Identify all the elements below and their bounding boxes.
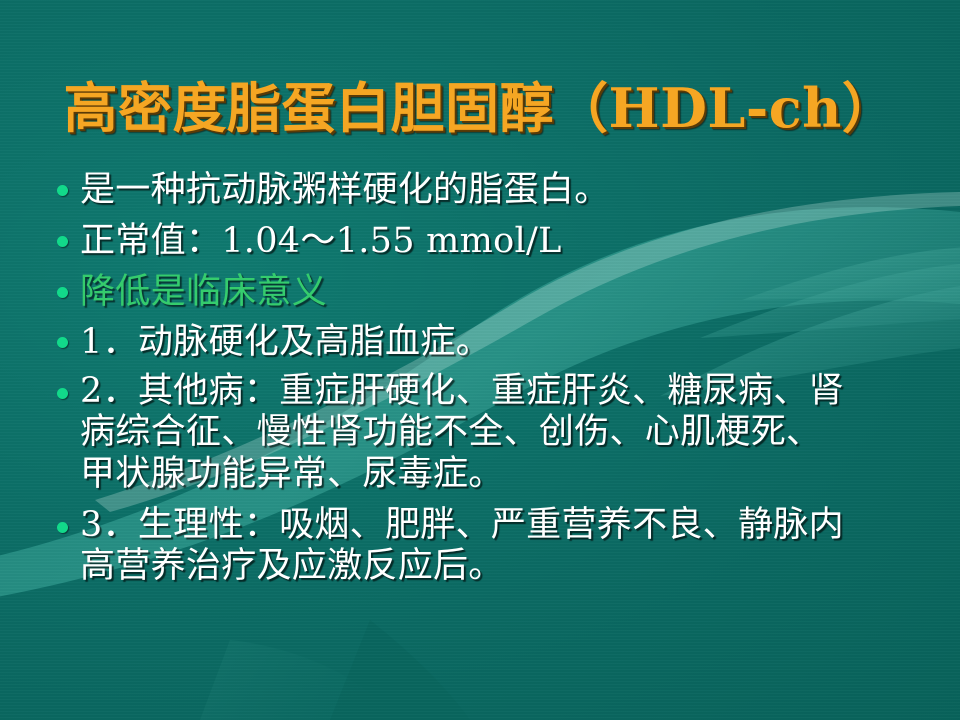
list-item: 正常值：1.04～1.55 mmol/L (46, 219, 936, 264)
bullet-line: 是一种抗动脉粥样硬化的脂蛋白。 (80, 168, 936, 213)
bullet-dot-icon (46, 219, 80, 247)
slide-title: 高密度脂蛋白胆固醇（HDL-ch） (0, 80, 960, 137)
bullet-line: 2．其他病：重症肝硬化、重症肝炎、糖尿病、肾 (80, 371, 936, 412)
bullet-line: 正常值：1.04～1.55 mmol/L (80, 219, 936, 264)
bullet-dot-icon (46, 168, 80, 196)
list-item: 降低是临床意义 (46, 270, 936, 315)
bullet-line: 高营养治疗及应激反应后。 (80, 546, 936, 587)
bullet-line: 降低是临床意义 (80, 270, 936, 315)
list-item: 1．动脉硬化及高脂血症。 (46, 320, 936, 365)
presentation-slide: 高密度脂蛋白胆固醇（HDL-ch） 是一种抗动脉粥样硬化的脂蛋白。 正常值：1.… (0, 0, 960, 720)
list-item: 3．生理性：吸烟、肥胖、严重营养不良、静脉内 高营养治疗及应激反应后。 (46, 505, 936, 588)
slide-bullet-list: 是一种抗动脉粥样硬化的脂蛋白。 正常值：1.04～1.55 mmol/L 降低是… (46, 168, 936, 594)
bullet-line: 病综合征、慢性肾功能不全、创伤、心肌梗死、 (80, 412, 936, 453)
bullet-text: 2．其他病：重症肝硬化、重症肝炎、糖尿病、肾 病综合征、慢性肾功能不全、创伤、心… (80, 371, 936, 495)
bullet-dot-icon (46, 505, 80, 533)
list-item: 是一种抗动脉粥样硬化的脂蛋白。 (46, 168, 936, 213)
bullet-dot-icon (46, 320, 80, 348)
bullet-text: 正常值：1.04～1.55 mmol/L (80, 219, 936, 264)
bullet-text: 1．动脉硬化及高脂血症。 (80, 320, 936, 365)
bullet-text: 3．生理性：吸烟、肥胖、严重营养不良、静脉内 高营养治疗及应激反应后。 (80, 505, 936, 588)
bullet-dot-icon (46, 270, 80, 298)
bullet-line: 3．生理性：吸烟、肥胖、严重营养不良、静脉内 (80, 505, 936, 546)
bullet-text-highlight: 降低是临床意义 (80, 270, 936, 315)
bullet-line: 1．动脉硬化及高脂血症。 (80, 320, 936, 365)
bullet-line: 甲状腺功能异常、尿毒症。 (80, 454, 936, 495)
bullet-text: 是一种抗动脉粥样硬化的脂蛋白。 (80, 168, 936, 213)
list-item: 2．其他病：重症肝硬化、重症肝炎、糖尿病、肾 病综合征、慢性肾功能不全、创伤、心… (46, 371, 936, 495)
bullet-dot-icon (46, 371, 80, 399)
